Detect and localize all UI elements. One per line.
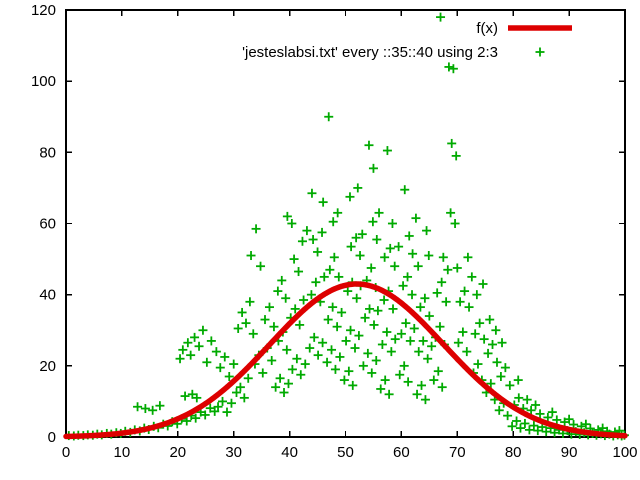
y-tick-label: 0 <box>48 429 56 446</box>
y-tick-label: 40 <box>39 287 56 304</box>
legend-entry-datafile-label: 'jesteslabsi.txt' every ::35::40 using 2… <box>242 44 498 61</box>
x-tick-label: 30 <box>225 444 242 461</box>
x-tick-label: 70 <box>449 444 466 461</box>
gnuplot-chart: 0102030405060708090100 020406080100120 f… <box>0 0 640 480</box>
x-tick-label: 100 <box>612 444 637 461</box>
x-tick-label: 80 <box>505 444 522 461</box>
chart-canvas: 0102030405060708090100 020406080100120 f… <box>0 0 640 480</box>
chart-background <box>0 0 640 480</box>
y-tick-label: 100 <box>31 73 56 90</box>
x-tick-label: 0 <box>62 444 70 461</box>
x-tick-label: 90 <box>561 444 578 461</box>
y-tick-label: 60 <box>39 216 56 233</box>
y-tick-label: 20 <box>39 358 56 375</box>
x-tick-label: 60 <box>393 444 410 461</box>
x-tick-label: 20 <box>169 444 186 461</box>
x-tick-label: 40 <box>281 444 298 461</box>
legend-entry-fx-label: f(x) <box>476 20 498 37</box>
x-tick-label: 10 <box>114 444 131 461</box>
x-tick-label: 50 <box>337 444 354 461</box>
y-tick-label: 80 <box>39 144 56 161</box>
y-tick-label: 120 <box>31 2 56 19</box>
